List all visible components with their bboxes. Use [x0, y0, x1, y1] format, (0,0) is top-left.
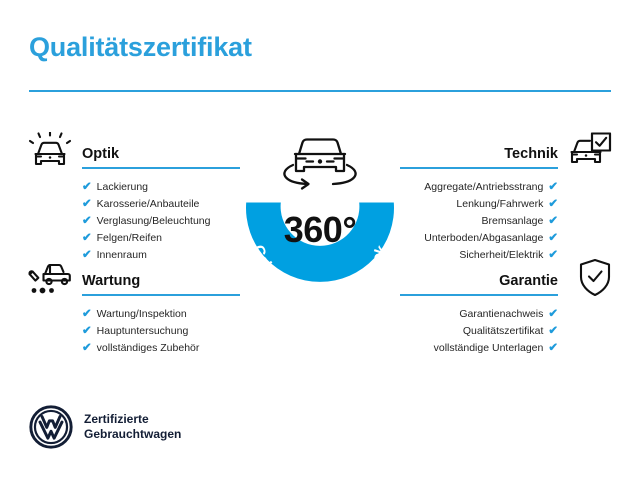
- section-header-technik: Technik: [382, 130, 612, 172]
- list-item: ✔Bremsanlage: [382, 213, 612, 230]
- 360-check-badge: 360° Gebrauchtwagen-Check: [228, 118, 412, 318]
- section-header-wartung: Wartung: [28, 257, 258, 299]
- list-item: ✔Lackierung: [28, 179, 258, 196]
- checklist-wartung: ✔Wartung/Inspektion ✔Hauptuntersuchung ✔…: [28, 299, 258, 357]
- list-item-label: Unterboden/Abgasanlage: [424, 230, 543, 247]
- check-icon: ✔: [548, 213, 558, 230]
- list-item: ✔Wartung/Inspektion: [28, 306, 258, 323]
- section-header-garantie: Garantie: [382, 257, 612, 299]
- list-item-label: vollständige Unterlagen: [434, 340, 544, 357]
- check-icon: ✔: [548, 179, 558, 196]
- section-technik: Technik ✔Aggregate/Antriebsstrang ✔Lenku…: [382, 130, 612, 264]
- check-icon: ✔: [548, 323, 558, 340]
- list-item-label: Garantienachweis: [459, 306, 543, 323]
- check-icon: ✔: [82, 179, 92, 196]
- check-icon: ✔: [82, 213, 92, 230]
- list-item: ✔Karosserie/Anbauteile: [28, 196, 258, 213]
- page-title: Qualitätszertifikat: [29, 32, 252, 63]
- list-item-label: Lackierung: [97, 179, 148, 196]
- footer-line-1: Zertifizierte: [84, 412, 181, 427]
- checklist-technik: ✔Aggregate/Antriebsstrang ✔Lenkung/Fahrw…: [382, 172, 612, 264]
- footer-text: Zertifizierte Gebrauchtwagen: [84, 412, 181, 442]
- check-icon: ✔: [82, 306, 92, 323]
- check-icon: ✔: [548, 340, 558, 357]
- section-title-technik: Technik: [504, 146, 558, 162]
- check-icon: ✔: [548, 230, 558, 247]
- section-divider-wartung: [82, 294, 240, 296]
- list-item-label: vollständiges Zubehör: [97, 340, 200, 357]
- section-header-optik: Optik: [28, 130, 258, 172]
- section-optik: Optik ✔Lackierung ✔Karosserie/Anbauteile…: [28, 130, 258, 264]
- footer-logo-block: Zertifizierte Gebrauchtwagen: [29, 405, 181, 449]
- check-icon: ✔: [548, 306, 558, 323]
- shield-check-icon: [566, 257, 612, 299]
- section-divider-garantie: [400, 294, 558, 296]
- checklist-garantie: ✔Garantienachweis ✔Qualitätszertifikat ✔…: [382, 299, 612, 357]
- list-item-label: Lenkung/Fahrwerk: [456, 196, 543, 213]
- list-item-label: Wartung/Inspektion: [97, 306, 187, 323]
- list-item: ✔vollständiges Zubehör: [28, 340, 258, 357]
- title-divider: [29, 90, 611, 92]
- list-item-label: Qualitätszertifikat: [463, 323, 544, 340]
- list-item-label: Bremsanlage: [481, 213, 543, 230]
- car-checkbox-icon: [566, 130, 612, 172]
- section-wartung: Wartung ✔Wartung/Inspektion ✔Hauptunters…: [28, 257, 258, 357]
- car-rotate-icon: [284, 140, 355, 189]
- list-item: ✔Hauptuntersuchung: [28, 323, 258, 340]
- section-title-optik: Optik: [82, 146, 119, 162]
- section-title-wartung: Wartung: [82, 273, 140, 289]
- section-divider-technik: [400, 167, 558, 169]
- footer-line-2: Gebrauchtwagen: [84, 427, 181, 442]
- list-item: ✔Unterboden/Abgasanlage: [382, 230, 612, 247]
- list-item: ✔Qualitätszertifikat: [382, 323, 612, 340]
- list-item: ✔Aggregate/Antriebsstrang: [382, 179, 612, 196]
- car-wrench-icon: [28, 257, 74, 299]
- list-item-label: Verglasung/Beleuchtung: [97, 213, 211, 230]
- badge-center-text: 360°: [284, 209, 356, 250]
- list-item: ✔Garantienachweis: [382, 306, 612, 323]
- list-item-label: Hauptuntersuchung: [97, 323, 189, 340]
- check-icon: ✔: [548, 196, 558, 213]
- check-icon: ✔: [82, 323, 92, 340]
- list-item-label: Karosserie/Anbauteile: [97, 196, 200, 213]
- list-item: ✔Lenkung/Fahrwerk: [382, 196, 612, 213]
- checklist-optik: ✔Lackierung ✔Karosserie/Anbauteile ✔Verg…: [28, 172, 258, 264]
- check-icon: ✔: [82, 196, 92, 213]
- check-icon: ✔: [82, 340, 92, 357]
- vw-logo: [29, 405, 73, 449]
- list-item-label: Aggregate/Antriebsstrang: [424, 179, 543, 196]
- check-icon: ✔: [82, 230, 92, 247]
- list-item: ✔Verglasung/Beleuchtung: [28, 213, 258, 230]
- car-shine-icon: [28, 130, 74, 172]
- list-item: ✔Felgen/Reifen: [28, 230, 258, 247]
- section-divider-optik: [82, 167, 240, 169]
- section-title-garantie: Garantie: [499, 273, 558, 289]
- certificate-page: Qualitätszertifikat Optik: [0, 0, 640, 480]
- list-item: ✔vollständige Unterlagen: [382, 340, 612, 357]
- section-garantie: Garantie ✔Garantienachweis ✔Qualitätszer…: [382, 257, 612, 357]
- list-item-label: Felgen/Reifen: [97, 230, 162, 247]
